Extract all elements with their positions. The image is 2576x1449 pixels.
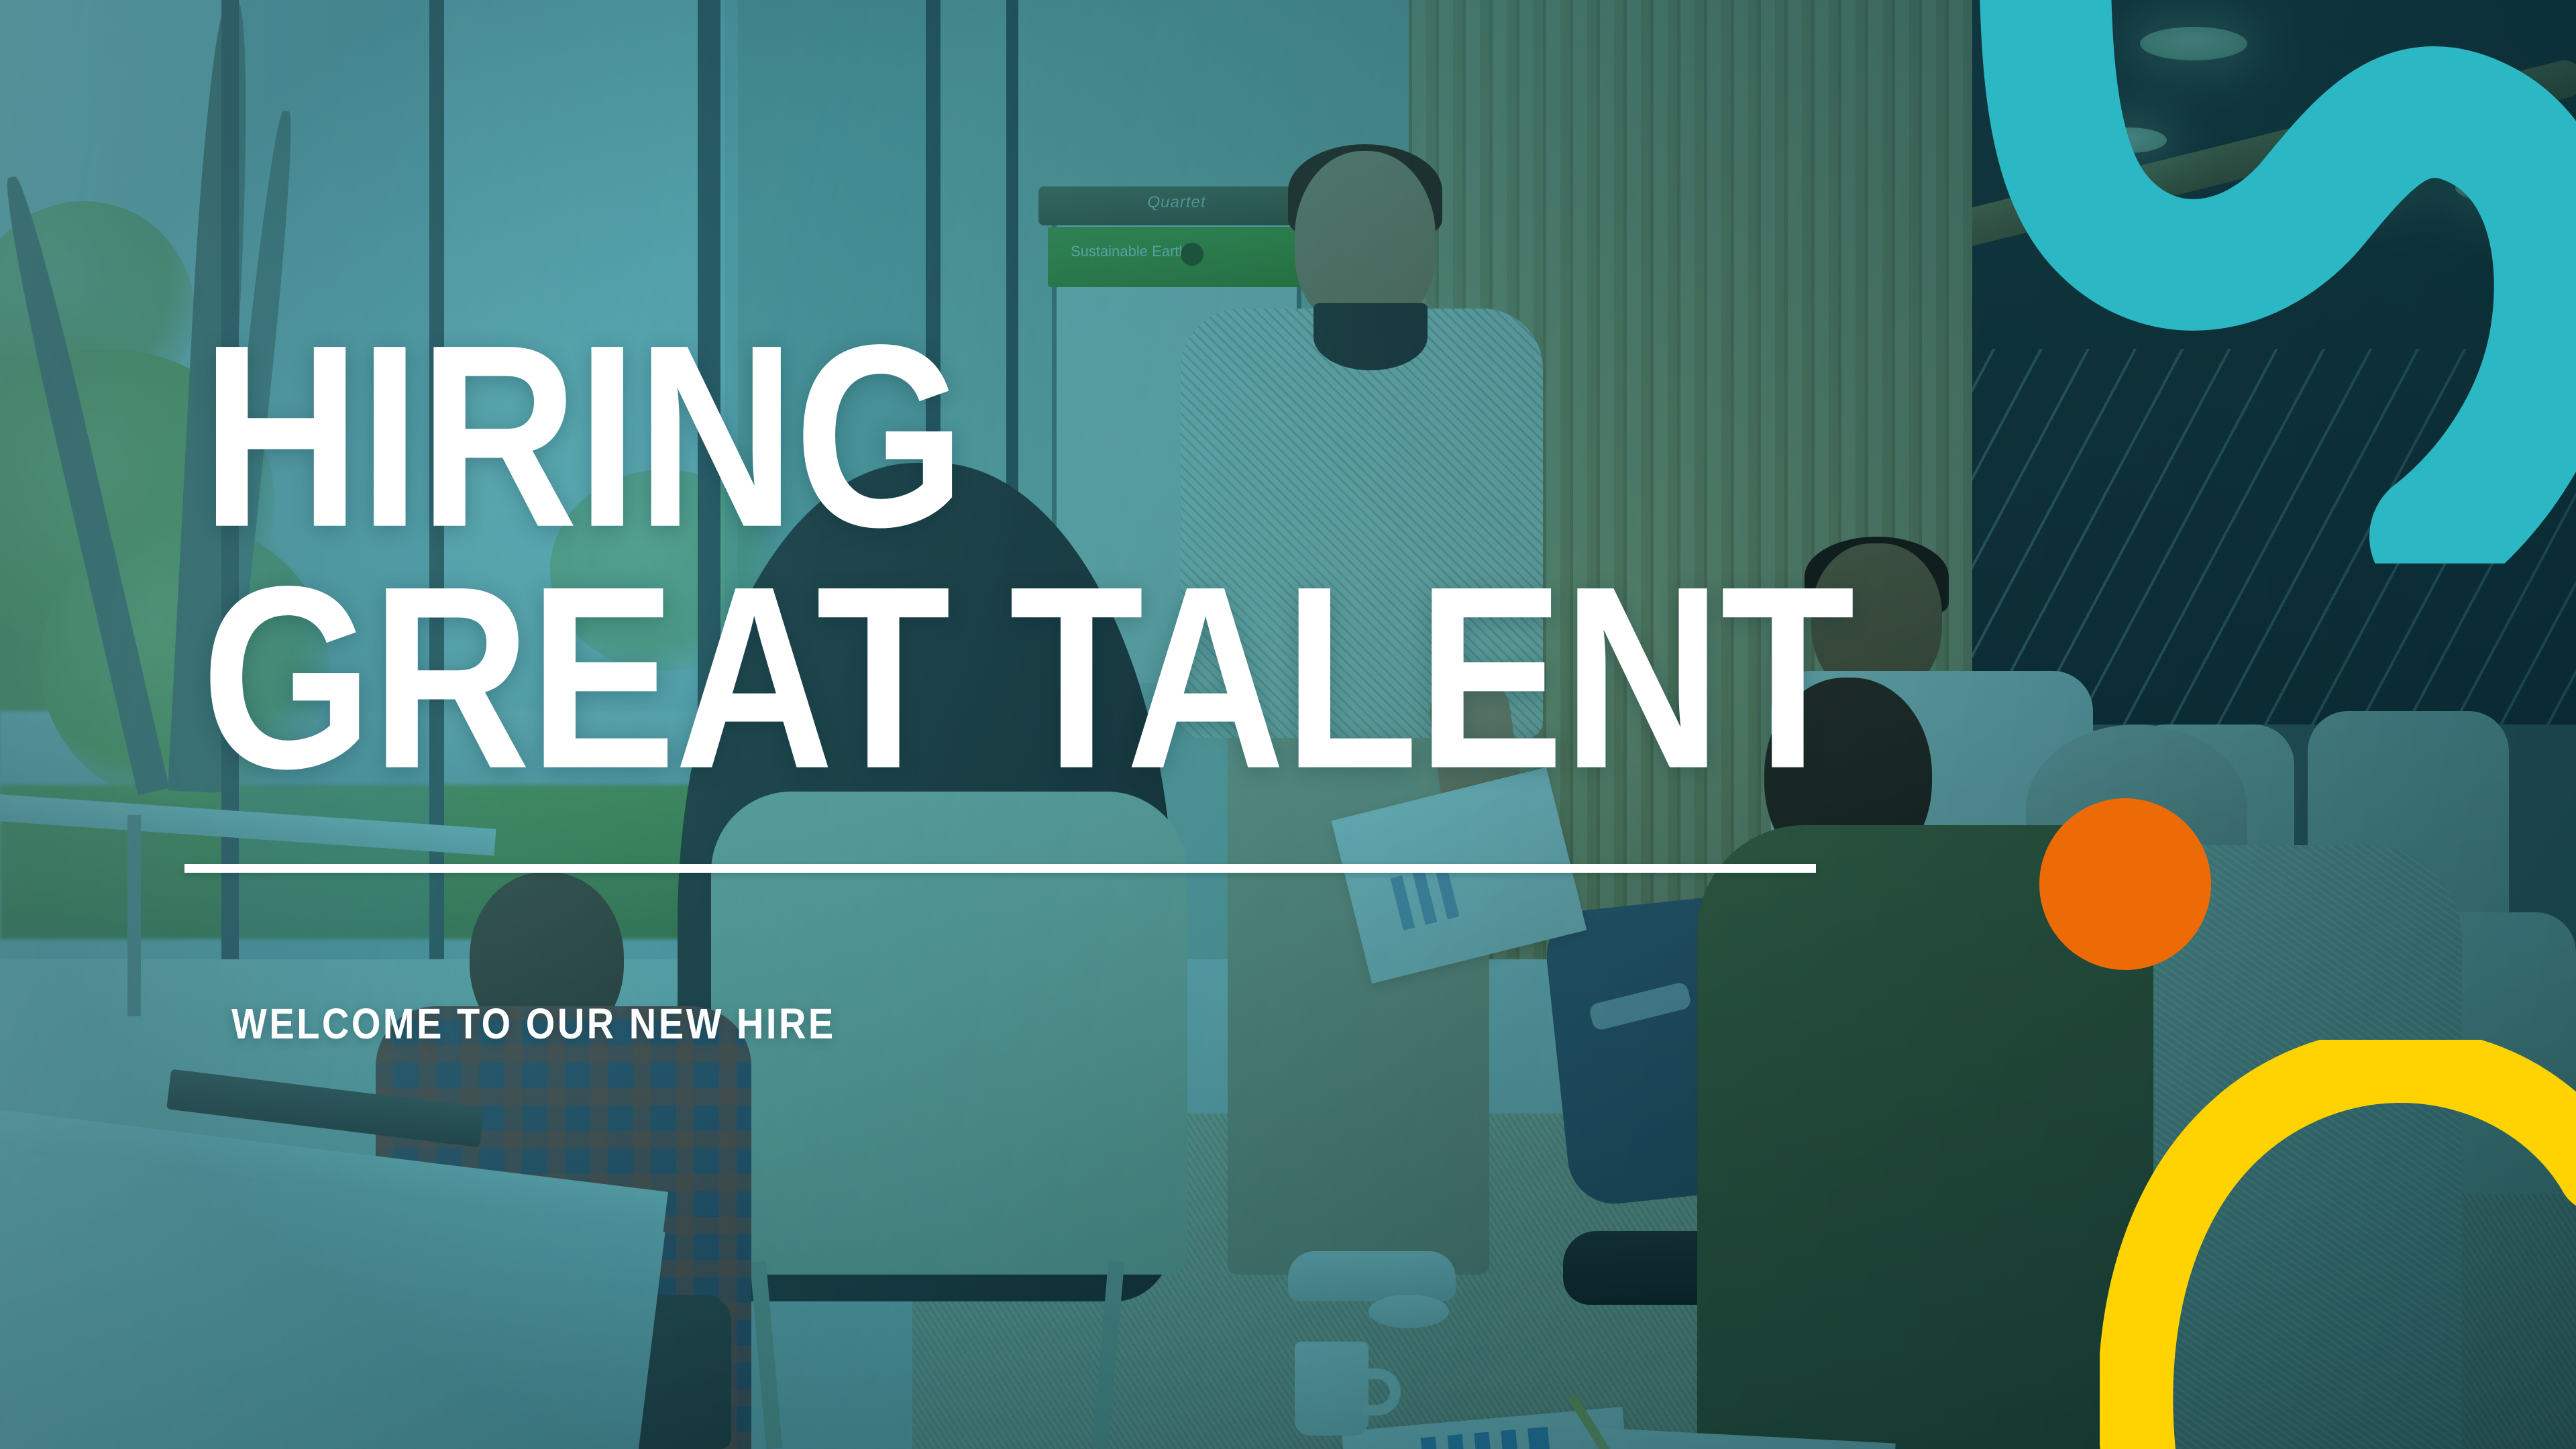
page-title: HIRING GREAT TALENT [201, 315, 1854, 799]
poster-canvas: Quartet Sustainable Earth [0, 0, 2576, 1449]
title-divider [184, 864, 1816, 873]
poster-copy: HIRING GREAT TALENT WELCOME TO OUR NEW H… [0, 0, 2576, 1449]
headline-line-2: GREAT TALENT [201, 557, 1854, 798]
poster-subtitle: WELCOME TO OUR NEW HIRE [231, 998, 836, 1049]
